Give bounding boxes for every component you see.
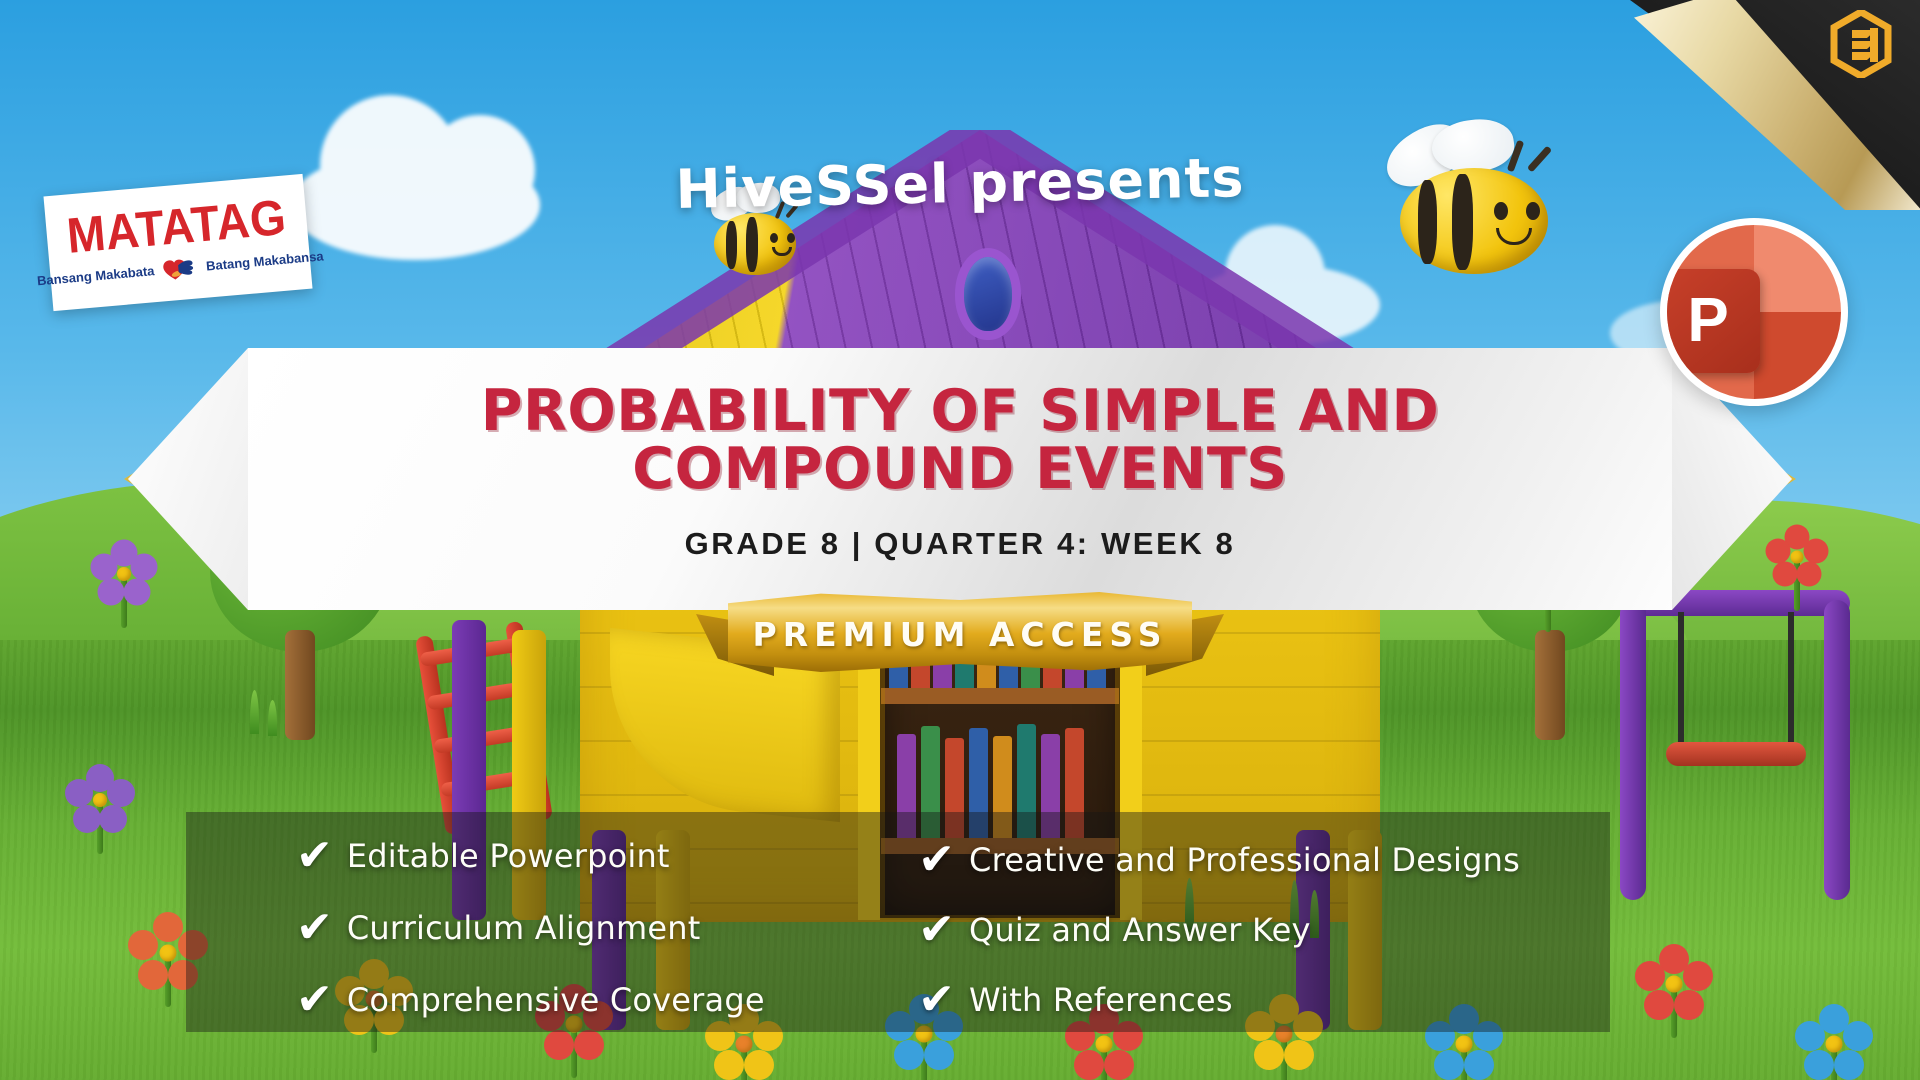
powerpoint-letter: P bbox=[1667, 269, 1760, 373]
feature-item: ✔ Editable Powerpoint bbox=[296, 834, 878, 878]
check-icon: ✔ bbox=[296, 978, 333, 1022]
matatag-badge: MATATAG Bansang Makabata Batang Makabans… bbox=[43, 174, 312, 311]
check-icon: ✔ bbox=[296, 834, 333, 878]
feature-item: ✔ Creative and Professional Designs bbox=[918, 838, 1520, 882]
premium-access-label: PREMIUM ACCESS bbox=[753, 615, 1168, 654]
feature-label: Curriculum Alignment bbox=[347, 909, 701, 947]
flower-icon bbox=[1630, 940, 1718, 1028]
features-panel: ✔ Editable Powerpoint ✔ Curriculum Align… bbox=[186, 812, 1610, 1032]
feature-item: ✔ Quiz and Answer Key bbox=[918, 908, 1520, 952]
page-title: PROBABILITY OF SIMPLE AND COMPOUND EVENT… bbox=[430, 382, 1490, 498]
check-icon: ✔ bbox=[296, 906, 333, 950]
check-icon: ✔ bbox=[918, 908, 955, 952]
feature-label: Comprehensive Coverage bbox=[347, 981, 765, 1019]
title-banner: PROBABILITY OF SIMPLE AND COMPOUND EVENT… bbox=[0, 348, 1920, 610]
feature-item: ✔ Curriculum Alignment bbox=[296, 906, 878, 950]
matatag-tagline-right: Batang Makabansa bbox=[205, 248, 324, 273]
corner-fold-decoration bbox=[1630, 0, 1920, 210]
hexagon-honeycomb-logo-icon bbox=[1830, 10, 1892, 78]
feature-label: Creative and Professional Designs bbox=[969, 841, 1520, 879]
swing-set-icon bbox=[1620, 590, 1850, 890]
feature-item: ✔ Comprehensive Coverage bbox=[296, 978, 878, 1022]
check-icon: ✔ bbox=[918, 978, 955, 1022]
grade-quarter-subtitle: GRADE 8 | QUARTER 4: WEEK 8 bbox=[685, 526, 1236, 562]
heart-hands-icon bbox=[158, 252, 202, 284]
feature-label: Editable Powerpoint bbox=[347, 837, 670, 875]
poster-canvas: MATATAG Bansang Makabata Batang Makabans… bbox=[0, 0, 1920, 1080]
flower-icon bbox=[1790, 1000, 1878, 1080]
feature-label: Quiz and Answer Key bbox=[969, 911, 1311, 949]
feature-item: ✔ With References bbox=[918, 978, 1520, 1022]
feature-label: With References bbox=[969, 981, 1233, 1019]
matatag-tagline-left: Bansang Makabata bbox=[36, 263, 155, 288]
premium-access-ribbon: PREMIUM ACCESS bbox=[710, 592, 1210, 688]
flower-icon bbox=[60, 760, 140, 840]
features-column-right: ✔ Creative and Professional Designs ✔ Qu… bbox=[918, 834, 1520, 1022]
check-icon: ✔ bbox=[918, 838, 955, 882]
features-column-left: ✔ Editable Powerpoint ✔ Curriculum Align… bbox=[296, 834, 878, 1022]
banner-arrow-left bbox=[128, 348, 248, 610]
powerpoint-icon: P bbox=[1660, 218, 1848, 406]
